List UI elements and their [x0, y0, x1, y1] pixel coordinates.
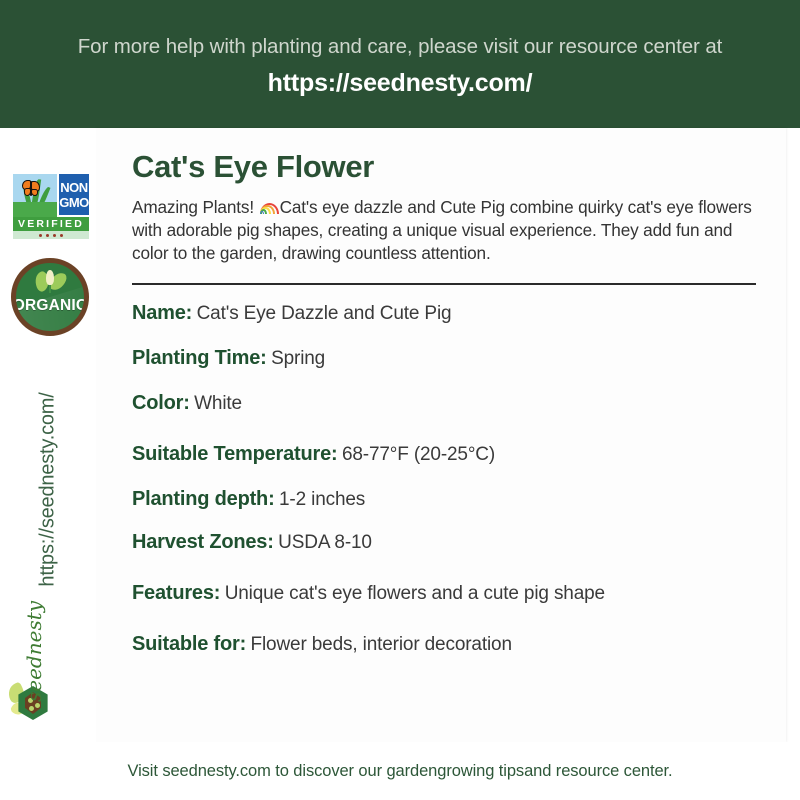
- detail-value: USDA 8-10: [278, 532, 372, 553]
- detail-value: Cat's Eye Dazzle and Cute Pig: [197, 303, 452, 324]
- detail-label: Planting depth:: [132, 488, 275, 510]
- page-title: Cat's Eye Flower: [132, 150, 756, 184]
- seed-dot: [46, 234, 49, 237]
- header-website-url[interactable]: https://seednesty.com/: [268, 69, 533, 98]
- butterfly-body: [30, 181, 32, 196]
- detail-label: Suitable Temperature:: [132, 443, 337, 465]
- header-help-text: For more help with planting and care, pl…: [78, 36, 722, 59]
- non-gmo-text-box: NON GMO: [59, 174, 89, 215]
- detail-row-suitable-temperature: Suitable Temperature: 68-77°F (20-25°C): [132, 442, 756, 467]
- plant-info-card: Cat's Eye Flower Amazing Plants! Cat's e…: [96, 128, 786, 742]
- detail-row-color: Color: White: [132, 391, 756, 416]
- seed-dot: [29, 706, 34, 711]
- non-gmo-artwork: NON GMO: [10, 171, 91, 217]
- detail-value: 1-2 inches: [279, 489, 365, 510]
- detail-row-harvest-zones: Harvest Zones: USDA 8-10: [132, 530, 756, 555]
- plant-description: Amazing Plants! Cat's eye dazzle and Cut…: [132, 196, 756, 265]
- organic-certification-seal: ORGANIC: [11, 258, 89, 336]
- detail-value: White: [194, 393, 242, 414]
- footer-note: Visit seednesty.com to discover our gard…: [0, 742, 800, 800]
- rainbow-icon: [260, 203, 279, 214]
- detail-value: Flower beds, interior decoration: [251, 634, 512, 655]
- seed-dot: [60, 234, 63, 237]
- seed-dot: [35, 703, 40, 708]
- detail-value: Spring: [271, 348, 325, 369]
- organic-label: ORGANIC: [13, 297, 88, 315]
- section-divider: [132, 283, 756, 285]
- detail-label: Color:: [132, 392, 190, 414]
- detail-label: Name:: [132, 302, 192, 324]
- seed-bud: [46, 270, 54, 285]
- seed-row-decoration: [13, 231, 89, 240]
- detail-row-planting-time: Planting Time: Spring: [132, 346, 756, 371]
- description-intro: Amazing Plants!: [132, 197, 259, 217]
- detail-label: Planting Time:: [132, 347, 267, 369]
- detail-label: Harvest Zones:: [132, 531, 274, 553]
- detail-row-planting-depth: Planting depth: 1-2 inches: [132, 487, 756, 512]
- label-body: NON GMO VERIFIED ORGANIC: [0, 128, 800, 800]
- verified-banner: VERIFIED: [13, 217, 89, 231]
- footer-text: Visit seednesty.com to discover our gard…: [127, 762, 672, 781]
- resource-center-header: For more help with planting and care, pl…: [0, 0, 800, 128]
- detail-label: Suitable for:: [132, 633, 246, 655]
- detail-value: Unique cat's eye flowers and a cute pig …: [225, 583, 605, 604]
- non-gmo-line2: GMO: [59, 196, 89, 209]
- brand-wordmark: seednesty: [22, 601, 46, 702]
- detail-row-name: Name: Cat's Eye Dazzle and Cute Pig: [132, 301, 756, 326]
- detail-row-suitable-for: Suitable for: Flower beds, interior deco…: [132, 632, 756, 657]
- detail-value: 68-77°F (20-25°C): [342, 444, 495, 465]
- certification-sidebar: NON GMO VERIFIED ORGANIC: [0, 128, 96, 742]
- detail-label: Features:: [132, 582, 220, 604]
- butterfly-wing: [31, 189, 38, 196]
- detail-row-features: Features: Unique cat's eye flowers and a…: [132, 581, 756, 606]
- non-gmo-verified-badge: NON GMO VERIFIED: [9, 170, 91, 240]
- non-gmo-line1: NON: [60, 181, 87, 194]
- grass-base: [13, 202, 57, 217]
- butterfly-icon: [22, 180, 42, 197]
- seed-dot: [53, 234, 56, 237]
- leaf-sprout-icon: [35, 270, 65, 294]
- sidebar-vertical-url[interactable]: https://seednesty.com/: [37, 360, 60, 620]
- seed-dot: [39, 234, 42, 237]
- seednesty-logo: seednesty: [8, 658, 94, 744]
